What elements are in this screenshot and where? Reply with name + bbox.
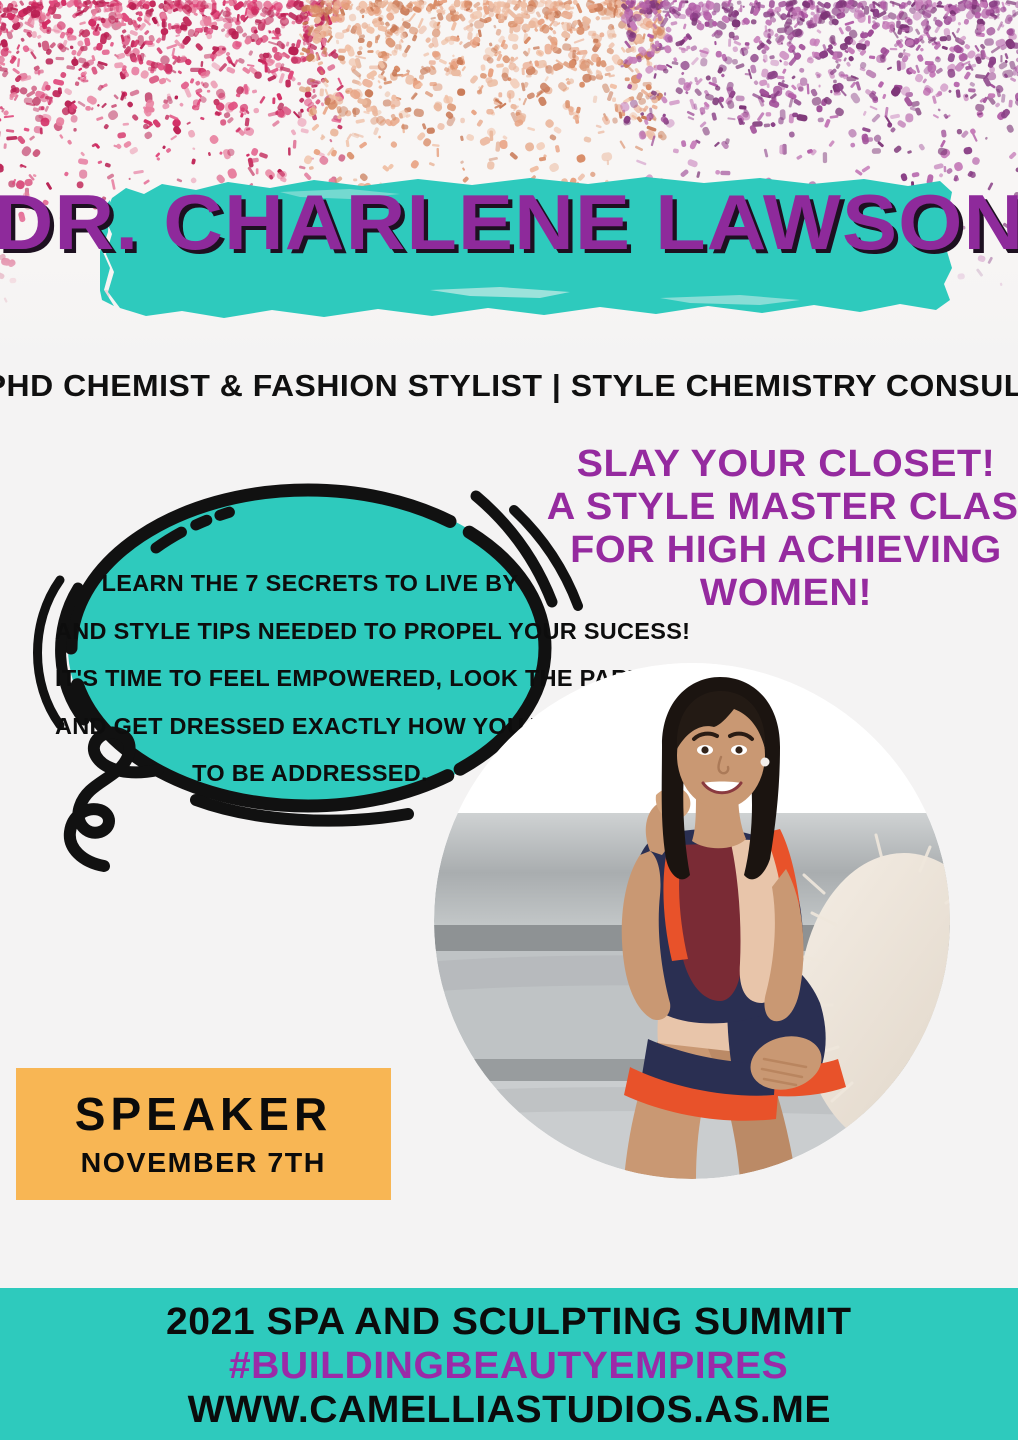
poster-canvas: DR. CHARLENE LAWSON PHD CHEMIST & FASHIO… [0,0,1018,1440]
credential-line: PHD CHEMIST & FASHION STYLIST | STYLE CH… [0,368,1018,404]
bubble-line-4: AND GET DRESSED EXACTLY HOW YOU WANT [55,703,565,751]
headline-line-2: A STYLE MASTER CLASS [547,486,1018,529]
footer-summit-title: 2021 SPA AND SCULPTING SUMMIT [166,1300,851,1344]
speaker-role-label: SPEAKER [75,1091,332,1137]
speaker-date: NOVEMBER 7TH [81,1149,326,1177]
footer-band: 2021 SPA AND SCULPTING SUMMIT #BUILDINGB… [0,1288,1018,1440]
bubble-line-1: LEARN THE 7 SECRETS TO LIVE BY [55,560,565,608]
bubble-line-3: IT'S TIME TO FEEL EMPOWERED, LOOK THE PA… [55,655,565,703]
speaker-portrait [434,663,950,1179]
footer-hashtag: #BUILDINGBEAUTYEMPIRES [229,1344,788,1388]
headline-line-1: SLAY YOUR CLOSET! [547,443,1018,486]
bubble-line-2: AND STYLE TIPS NEEDED TO PROPEL YOUR SUC… [55,608,565,656]
footer-website-url[interactable]: WWW.CAMELLIASTUDIOS.AS.ME [187,1388,830,1432]
headline-line-4: WOMEN! [547,572,1018,615]
headline-line-3: FOR HIGH ACHIEVING [547,529,1018,572]
portrait-illustration [434,663,950,1179]
class-headline: SLAY YOUR CLOSET! A STYLE MASTER CLASS F… [547,443,1018,615]
page-title: DR. CHARLENE LAWSON [0,183,1018,261]
speaker-badge: SPEAKER NOVEMBER 7TH [16,1068,391,1200]
